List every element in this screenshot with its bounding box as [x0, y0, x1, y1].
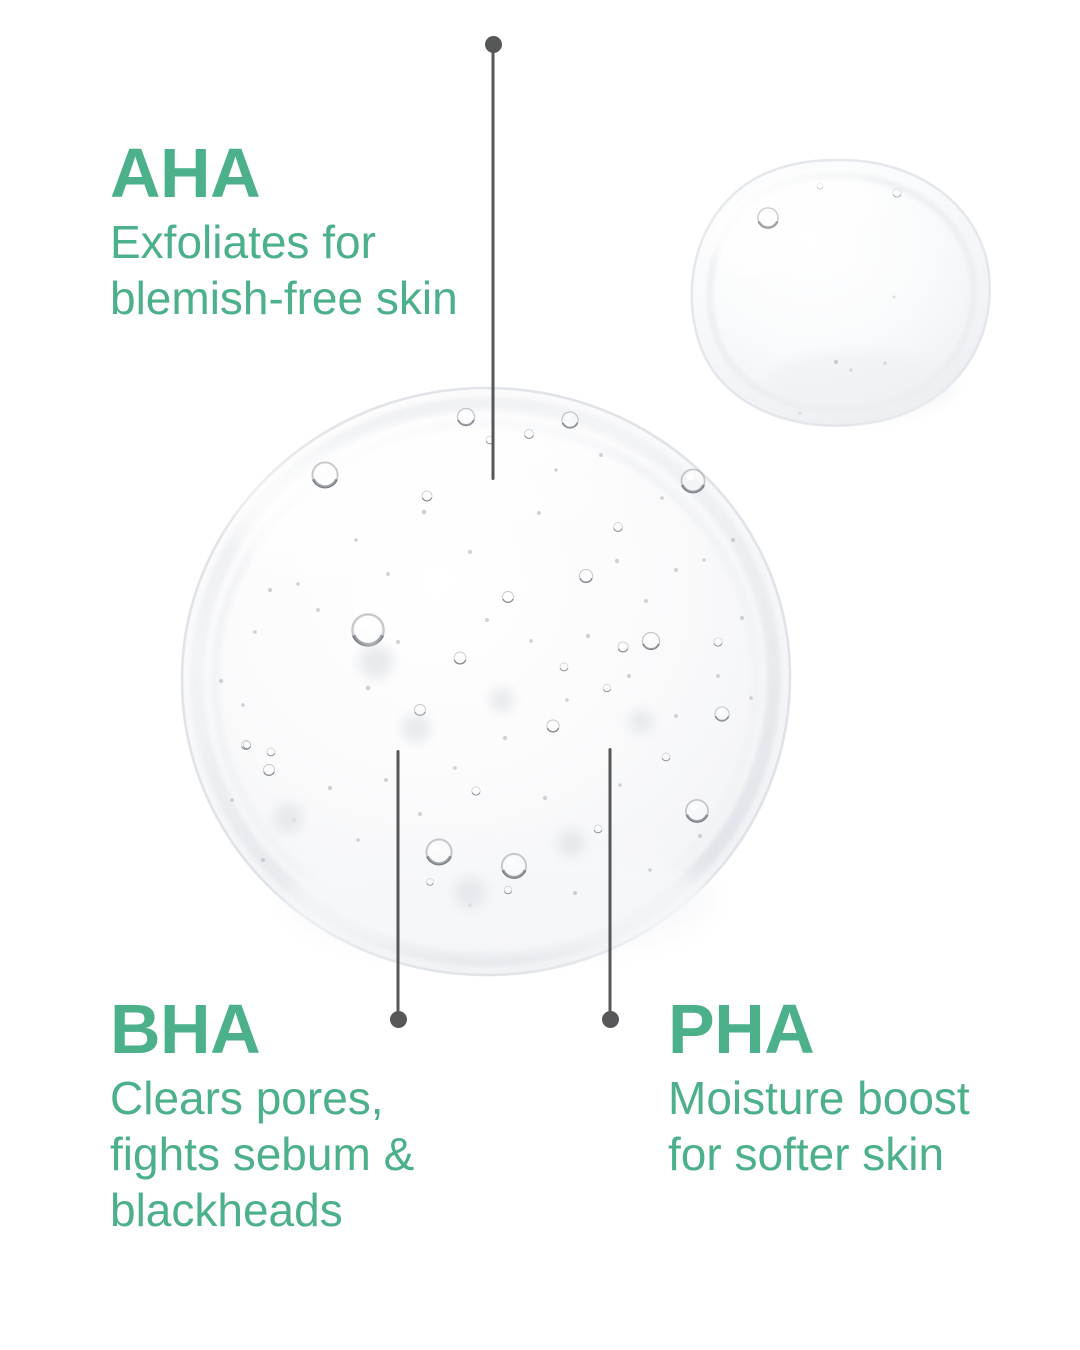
callout-pha-title: PHA	[668, 994, 970, 1064]
aha-leader-dot	[485, 36, 502, 53]
callout-bha-description: Clears pores, fights sebum & blackheads	[110, 1070, 414, 1238]
bha-leader-stroke	[397, 750, 400, 1020]
pha-leader-stroke	[609, 748, 612, 1020]
infographic-canvas: AHA Exfoliates for blemish-free skin BHA…	[0, 0, 1080, 1350]
callout-aha-title: AHA	[110, 138, 458, 208]
pha-leader-dot	[602, 1011, 619, 1028]
callout-pha: PHA Moisture boost for softer skin	[668, 994, 970, 1182]
small-gel-droplet	[692, 154, 990, 434]
callout-bha-title: BHA	[110, 994, 414, 1064]
aha-leader-stroke	[492, 44, 495, 480]
large-gel-droplet	[178, 388, 802, 990]
callout-bha: BHA Clears pores, fights sebum & blackhe…	[110, 994, 414, 1238]
bubbles	[219, 409, 753, 910]
callout-aha: AHA Exfoliates for blemish-free skin	[110, 138, 458, 326]
callout-pha-description: Moisture boost for softer skin	[668, 1070, 970, 1182]
callout-aha-description: Exfoliates for blemish-free skin	[110, 214, 458, 326]
